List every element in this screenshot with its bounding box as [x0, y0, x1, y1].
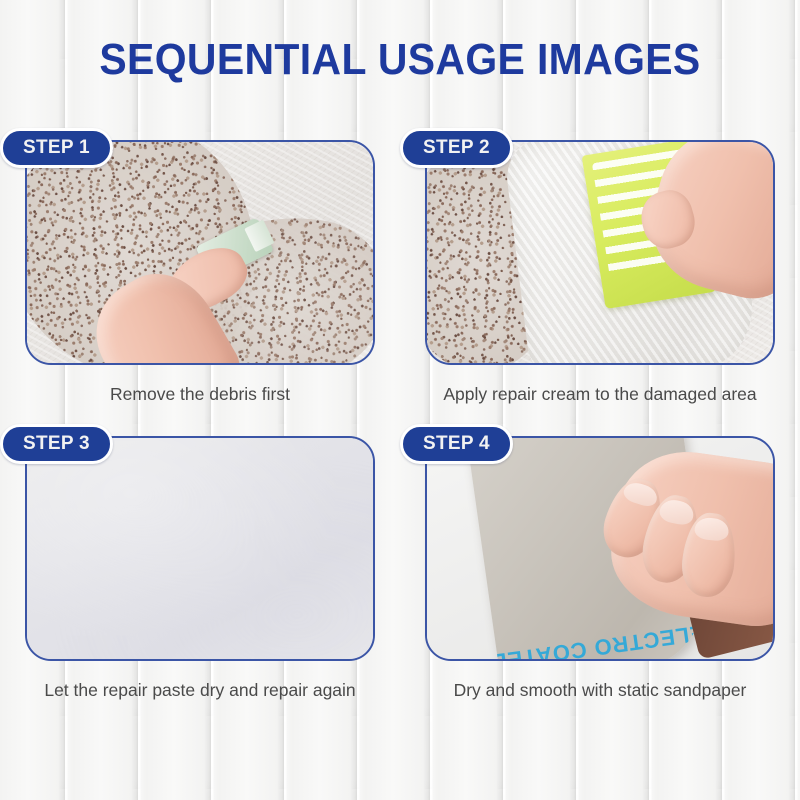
step-caption-2: Apply repair cream to the damaged area: [425, 381, 775, 407]
step-badge-3: STEP 3: [0, 424, 113, 464]
step-card-1: STEP 1 Remove the debris first: [0, 128, 400, 424]
step-card-3: STEP 3 Let the repair paste dry and repa…: [0, 424, 400, 730]
step-card-4: ELECTRO COATED ABRASIVE STEP 4 Dry and s…: [400, 424, 800, 730]
step-1-image-card[interactable]: [25, 140, 375, 365]
step-card-2: STEP 2 Apply repair cream to the damaged…: [400, 128, 800, 424]
step-caption-3: Let the repair paste dry and repair agai…: [25, 677, 375, 703]
step-1-photo: [27, 142, 373, 363]
step-4-photo: ELECTRO COATED ABRASIVE: [427, 438, 773, 659]
step-3-image-card[interactable]: [25, 436, 375, 661]
step-2-photo: [427, 142, 773, 363]
step-badge-2: STEP 2: [400, 128, 513, 168]
dried-repaired-wall: [27, 438, 373, 659]
step-caption-1: Remove the debris first: [25, 381, 375, 407]
step-4-image-card[interactable]: ELECTRO COATED ABRASIVE: [425, 436, 775, 661]
fingernail: [621, 479, 659, 509]
page-title: SEQUENTIAL USAGE IMAGES: [28, 34, 772, 86]
steps-grid: STEP 1 Remove the debris first STEP 2 Ap…: [0, 128, 800, 730]
step-badge-1: STEP 1: [0, 128, 113, 168]
poster-root: SEQUENTIAL USAGE IMAGES STEP 1 Remove th…: [0, 0, 800, 800]
step-2-image-card[interactable]: [425, 140, 775, 365]
step-caption-4: Dry and smooth with static sandpaper: [425, 677, 775, 703]
fingernail: [658, 498, 695, 527]
step-badge-4: STEP 4: [400, 424, 513, 464]
fingernail: [694, 517, 729, 542]
step-3-photo: [27, 438, 373, 659]
